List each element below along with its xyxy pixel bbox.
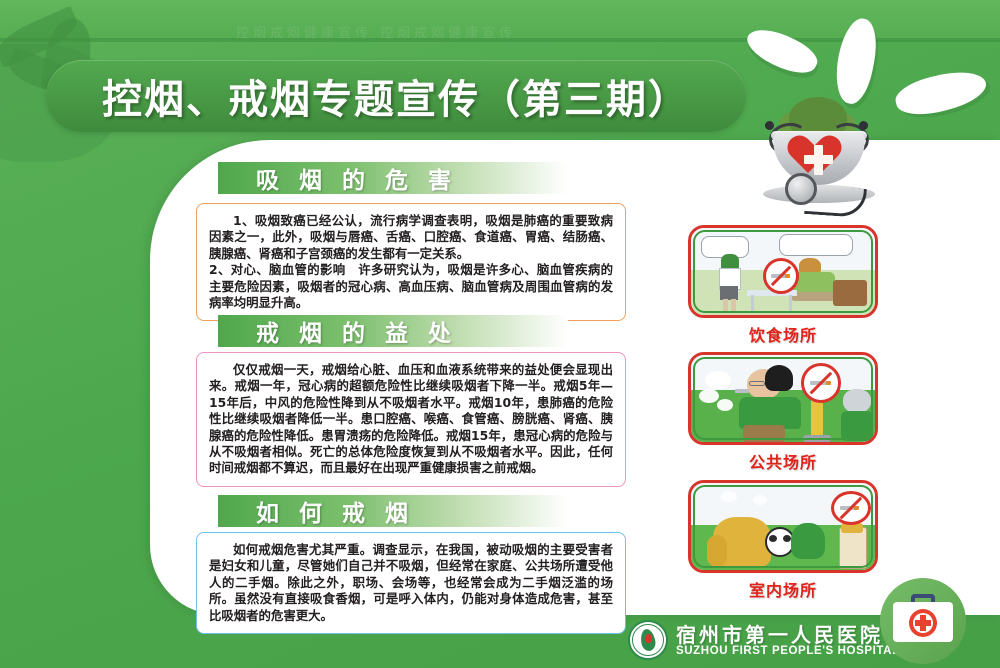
- speech-bubble: [779, 234, 853, 256]
- person-legs: [743, 425, 785, 443]
- section-body-1: 1、吸烟致癌已经公认，流行病学调查表明，吸烟是肺癌的重要致病因素之一，此外，吸烟…: [196, 203, 626, 321]
- table-leg: [789, 295, 792, 311]
- side-table: [839, 527, 867, 569]
- hospital-logo-accent: [645, 634, 652, 643]
- panda-eye: [783, 535, 791, 542]
- poster-root: 控烟戒烟健康宣传 控烟戒烟健康宣传 控烟、戒烟专题宣传（第三期） 吸 烟 的 危…: [0, 0, 1000, 668]
- section-body-3: 如何戒烟危害尤其严重。调查显示，在我国，被动吸烟的主要受害者是妇女和儿童，尽管她…: [196, 532, 626, 634]
- watermark-text: 控烟戒烟健康宣传 控烟戒烟健康宣传: [236, 22, 656, 38]
- cigarette-tip: [826, 381, 831, 385]
- sign-base: [803, 435, 831, 442]
- section-title: 如 何 戒 烟: [218, 494, 414, 528]
- stethoscope-earpiece-right: [859, 121, 868, 130]
- illustration-caption: 室内场所: [688, 577, 878, 601]
- illustration-dining: [688, 225, 878, 318]
- cigarette: [735, 389, 749, 393]
- section-title: 吸 烟 的 危 害: [218, 161, 457, 195]
- sofa-arm: [707, 535, 727, 567]
- section-header-1: 吸 烟 的 危 害: [218, 162, 568, 194]
- section-body-2: 仅仅戒烟一天，戒烟给心脏、血压和血液系统带来的益处便会显现出来。戒烟一年，冠心病…: [196, 352, 626, 487]
- fence: [833, 280, 867, 306]
- page-title: 控烟、戒烟专题宣传（第三期）: [46, 60, 746, 132]
- smoke-puff: [717, 399, 733, 411]
- no-smoking-icon: [831, 491, 871, 525]
- no-smoking-icon: [801, 363, 841, 403]
- plant: [791, 523, 825, 559]
- illustration-caption: 公共场所: [688, 449, 878, 473]
- smoke-puff: [699, 389, 719, 403]
- paragraph: 1、吸烟致癌已经公认，流行病学调查表明，吸烟是肺癌的重要致病因素之一，此外，吸烟…: [209, 213, 613, 262]
- smoke-puff: [721, 491, 737, 502]
- cross-horizontal: [804, 155, 833, 164]
- paragraph: 2、对心、脑血管的影响 许多研究认为，吸烟是许多心、脑血管疾病的主要危险因素，吸…: [209, 262, 613, 311]
- illustration-indoor: [688, 480, 878, 573]
- cigarette-tip: [854, 506, 859, 510]
- hospital-name-en: SUZHOU FIRST PEOPLE'S HOSPITAL: [676, 645, 900, 657]
- table-leg: [751, 295, 754, 311]
- smoke-puff: [753, 495, 767, 505]
- person-hair: [765, 365, 793, 391]
- panda-eye: [769, 535, 777, 542]
- bystander-body: [841, 411, 873, 441]
- stethoscope-chestpiece: [785, 173, 817, 205]
- stethoscope-earpiece-left: [765, 121, 774, 130]
- illustration-caption: 饮食场所: [688, 322, 878, 346]
- no-smoking-icon: [763, 258, 799, 294]
- person-skirt: [720, 286, 738, 300]
- illustration-public: [688, 352, 878, 445]
- paragraph: 如何戒烟危害尤其严重。调查显示，在我国，被动吸烟的主要受害者是妇女和儿童，尽管她…: [209, 542, 613, 624]
- person-leg: [723, 299, 728, 313]
- glasses: [749, 381, 765, 386]
- hospital-name-cn: 宿州市第一人民医院: [676, 619, 883, 648]
- section-header-3: 如 何 戒 烟: [218, 495, 568, 527]
- cross-horizontal: [915, 620, 931, 626]
- section-header-2: 戒 烟 的 益 处: [218, 315, 568, 347]
- stethoscope-icon: [745, 95, 885, 223]
- person-leg: [731, 299, 736, 313]
- paragraph: 仅仅戒烟一天，戒烟给心脏、血压和血液系统带来的益处便会显现出来。戒烟一年，冠心病…: [209, 362, 613, 477]
- bystander: [843, 389, 871, 413]
- smoke-puff: [705, 371, 731, 389]
- cigarette-tip: [785, 274, 790, 278]
- section-title: 戒 烟 的 益 处: [218, 314, 457, 348]
